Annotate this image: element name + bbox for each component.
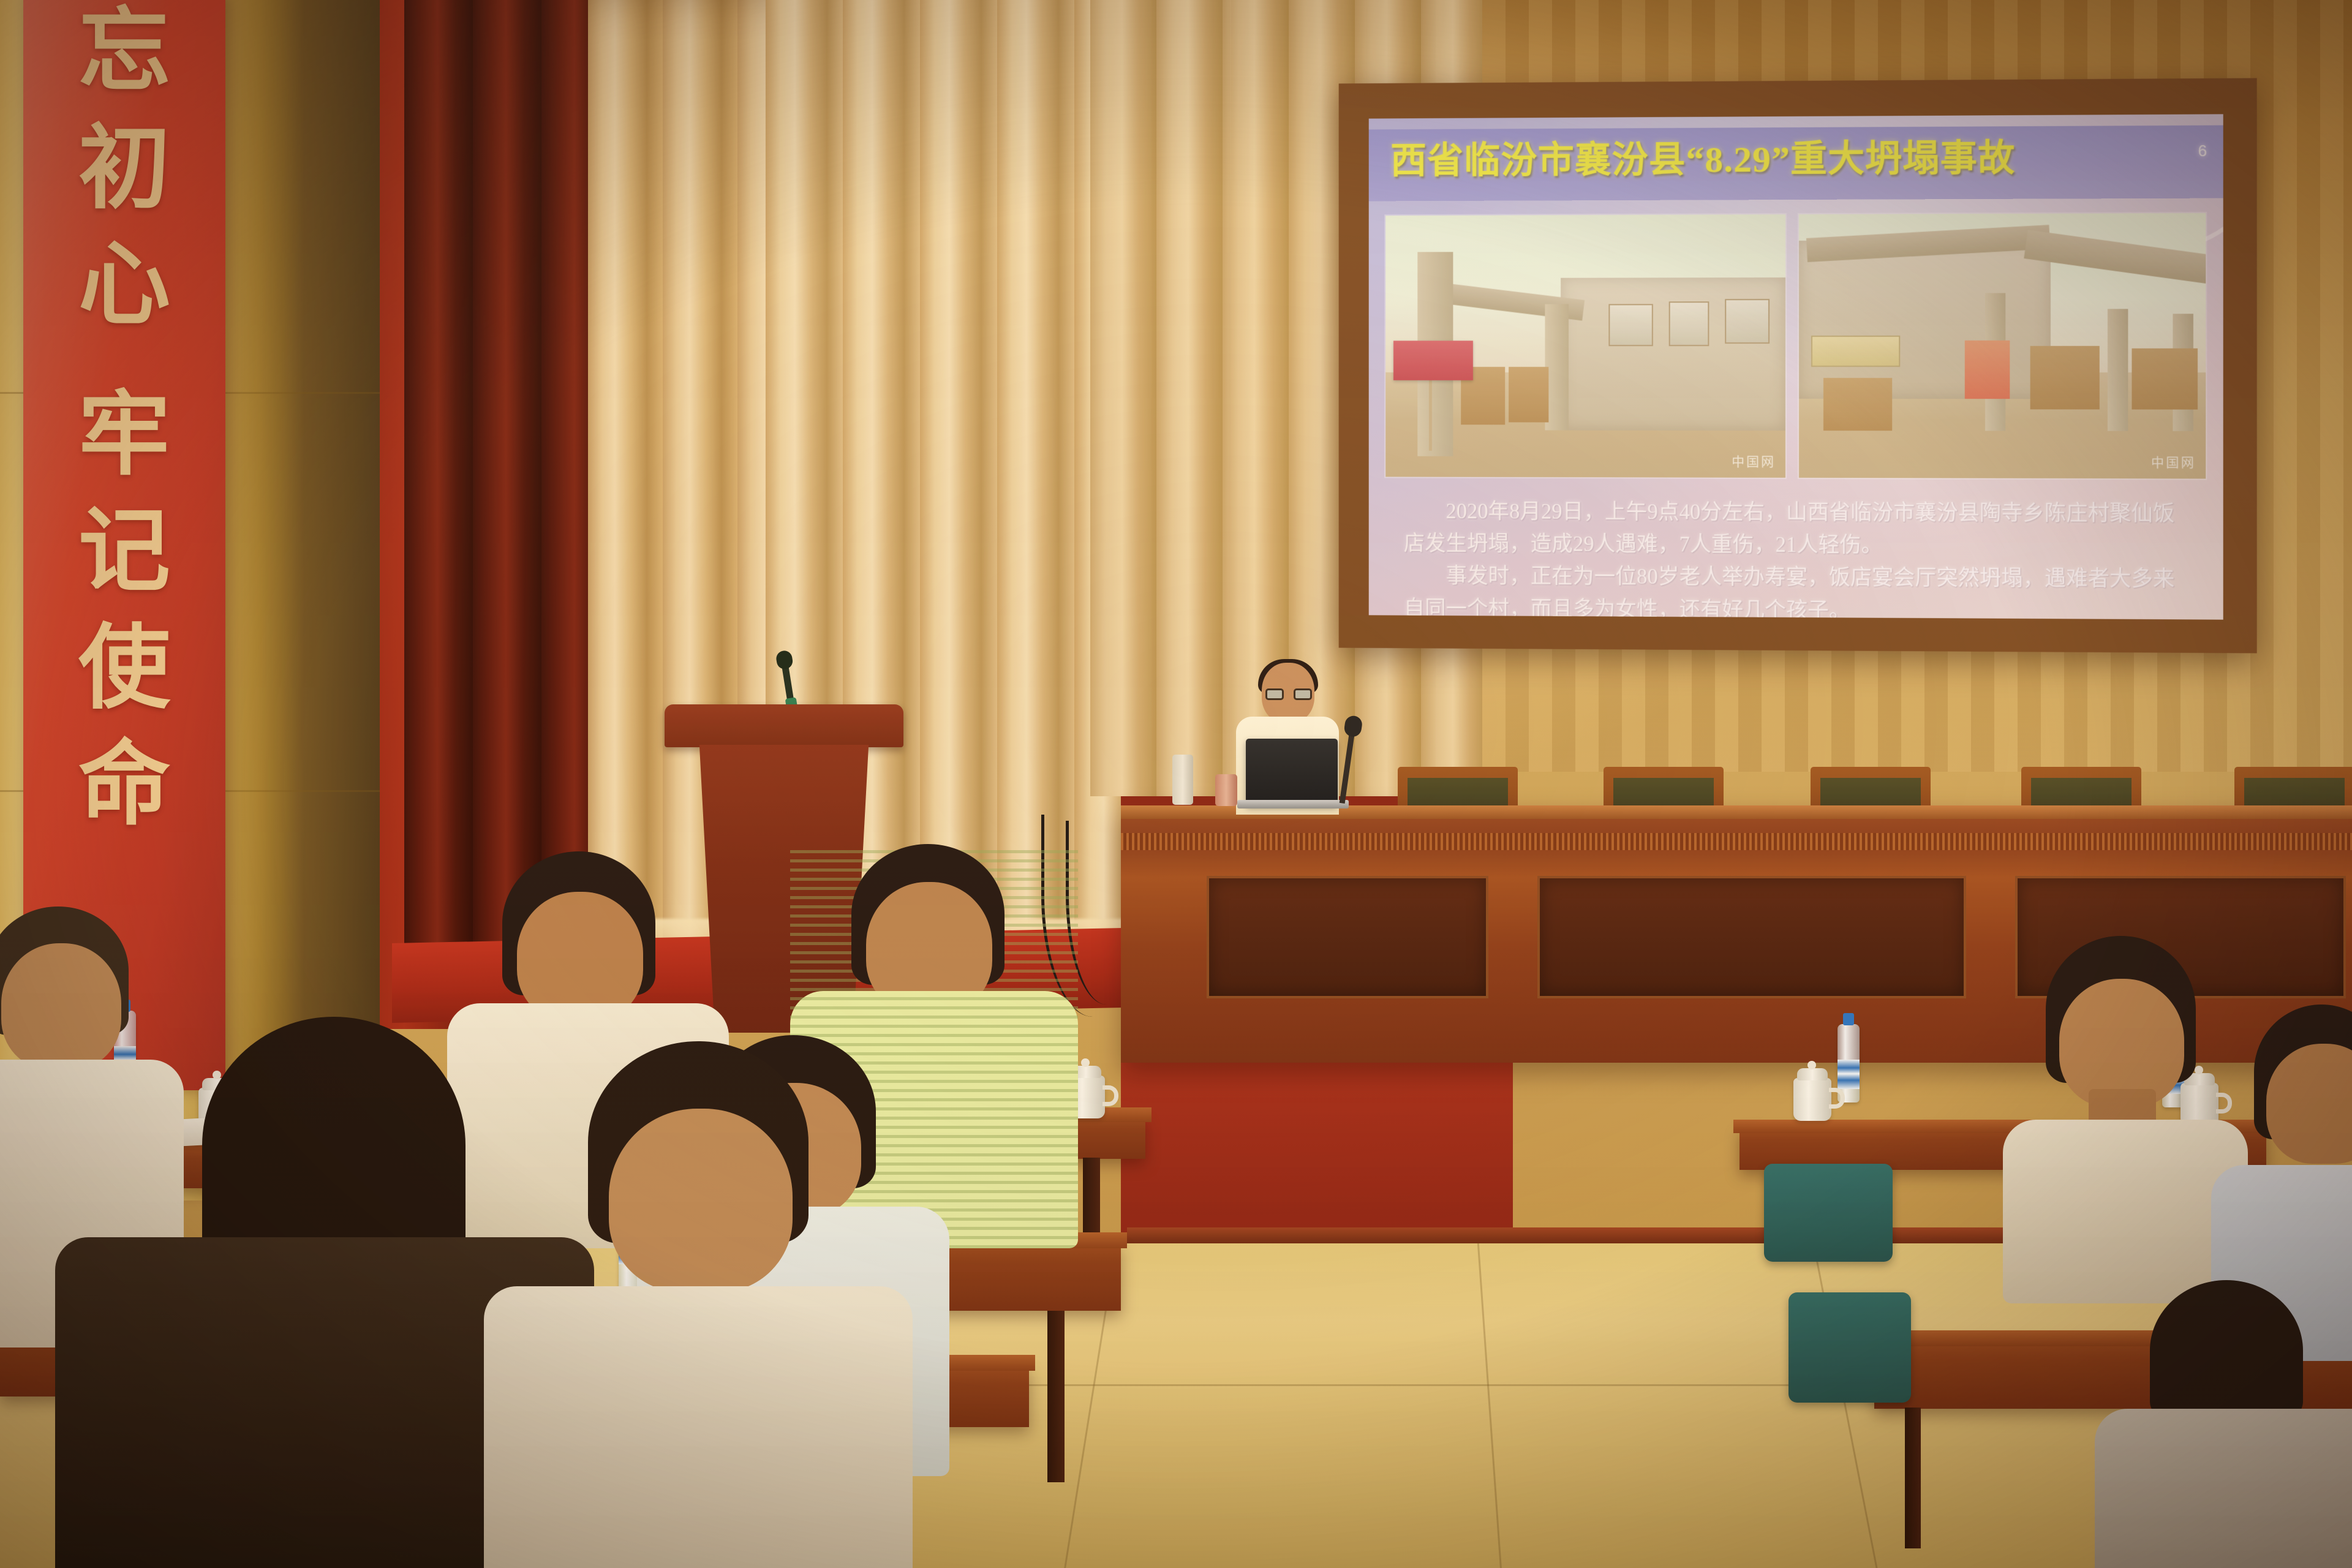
desk-leg-center-front	[1047, 1311, 1065, 1482]
attendee-hair	[202, 1017, 466, 1274]
attendee-head	[517, 892, 643, 1022]
attendee-bottom-center-white	[508, 1041, 888, 1568]
photo-watermark-left: 中国网	[1732, 452, 1776, 470]
presenter-glasses	[1265, 688, 1312, 701]
slide-photo-row: 中国网 中国网	[1385, 213, 2206, 479]
attendee-torso	[484, 1286, 913, 1568]
attendee-head	[609, 1109, 793, 1292]
banner-char-1: 忘	[78, 0, 170, 111]
podium-top	[665, 704, 903, 747]
banner-char-7: 命	[78, 727, 170, 844]
warning-sign	[1393, 341, 1473, 380]
desk-leg-right	[1905, 1408, 1921, 1548]
banner-char-3: 心	[78, 227, 170, 344]
banner-char-2: 初	[78, 111, 170, 228]
banner-char-6: 使	[78, 611, 170, 728]
presenter-laptop-base	[1237, 800, 1349, 809]
projection-screen: 西省临汾市襄汾县“8.29”重大坍塌事故 6	[1369, 114, 2223, 619]
attendee-corner-dark-shirt	[2107, 1280, 2352, 1568]
slide-paragraph-1: 2020年8月29日，上午9点40分左右，山西省临汾市襄汾县陶寺乡陈庄村聚仙饭店…	[1404, 495, 2191, 563]
slide-title: 西省临汾市襄汾县“8.29”重大坍塌事故	[1390, 140, 2024, 179]
attendee-torso	[2095, 1409, 2352, 1568]
head-table-reeded-trim	[1121, 833, 2352, 850]
projection-screen-frame: 西省临汾市襄汾县“8.29”重大坍塌事故 6	[1339, 78, 2257, 653]
presenter-thermos	[1172, 755, 1193, 805]
photo-watermark-right: 中国网	[2151, 453, 2196, 471]
presenter-laptop	[1246, 739, 1338, 806]
slide-body-text: 2020年8月29日，上午9点40分左右，山西省临汾市襄汾县陶寺乡陈庄村聚仙饭店…	[1404, 495, 2191, 619]
collapse-photo-right: 中国网	[1799, 213, 2206, 479]
banner-char-5: 记	[78, 494, 170, 611]
audience-chair-right-2[interactable]	[1789, 1292, 1911, 1403]
head-table-panel-1	[1207, 876, 1488, 998]
tea-cup-right-1	[1793, 1078, 1831, 1121]
presenter-cup	[1215, 774, 1237, 806]
collapse-photo-left: 中国网	[1385, 214, 1785, 478]
slide-paragraph-2: 事发时，正在为一位80岁老人举办寿宴，饭店宴会厅突然坍塌，遇难者大多来自同一个村…	[1404, 560, 2191, 620]
banner-char-4: 牢	[78, 377, 170, 494]
audience-chair-right-1[interactable]	[1764, 1164, 1893, 1262]
head-table-panel-2	[1537, 876, 1966, 998]
attendee-hair	[2150, 1280, 2303, 1421]
attendee-head	[2059, 979, 2184, 1107]
slide-number: 6	[2198, 141, 2207, 160]
conference-hall-photo: 忘 初 心 牢 记 使 命 西省临汾市襄汾县“8.29”重大坍塌事故 6	[0, 0, 2352, 1568]
